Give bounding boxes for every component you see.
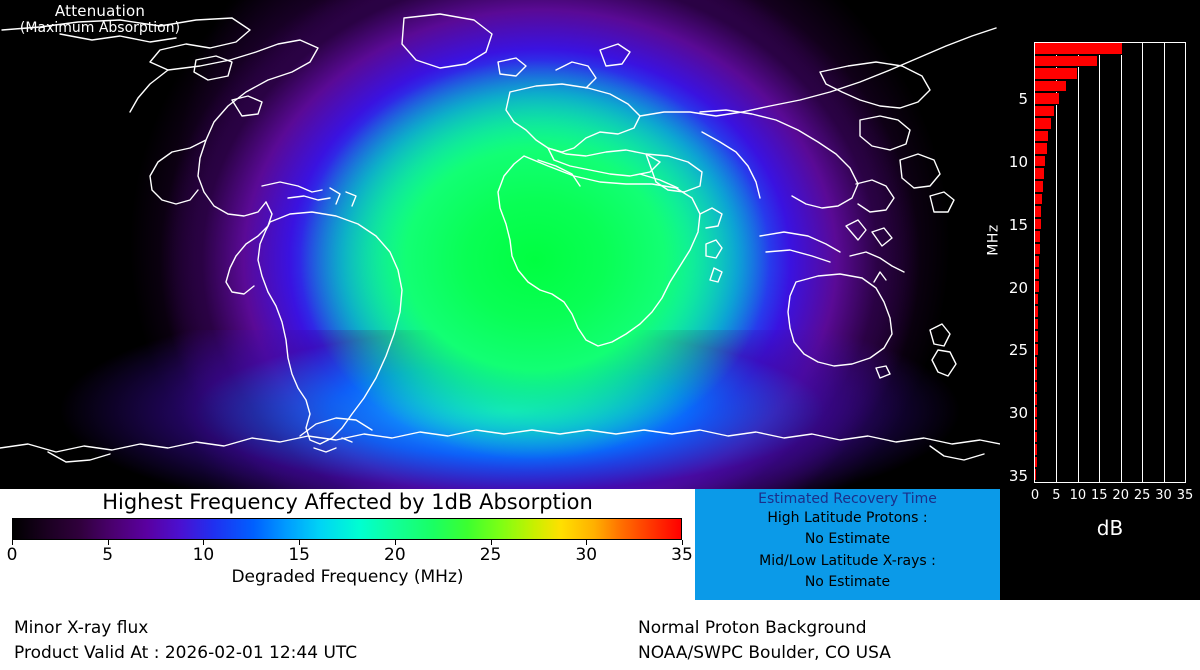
attenuation-bar <box>1035 407 1037 419</box>
attenuation-bar <box>1035 106 1054 118</box>
attenuation-bar <box>1035 369 1037 381</box>
attenuation-bar <box>1035 68 1077 80</box>
attenuation-bar <box>1035 419 1037 431</box>
footer: Minor X-ray flux Product Valid At : 2026… <box>0 600 1200 670</box>
attenuation-y-tick-30: 30 <box>0 404 1028 422</box>
colorbar-axis-label: Degraded Frequency (MHz) <box>0 567 695 587</box>
attenuation-bar <box>1035 93 1059 105</box>
attenuation-bar <box>1035 181 1043 193</box>
attenuation-bar <box>1035 219 1041 231</box>
attenuation-x-tick-35: 35 <box>1172 488 1198 503</box>
attenuation-bar <box>1035 394 1037 406</box>
attenuation-bar <box>1035 156 1045 168</box>
attenuation-bar <box>1035 231 1040 243</box>
attenuation-bar <box>1035 331 1038 343</box>
attenuation-bar <box>1035 256 1039 268</box>
attenuation-chart-title: Attenuation <box>0 3 200 20</box>
colorbar-tick-5: 5 <box>88 545 128 565</box>
attenuation-bar <box>1035 319 1038 331</box>
recovery-xray-label: Mid/Low Latitude X-rays : <box>695 553 1000 570</box>
recovery-proton-value: No Estimate <box>695 531 1000 548</box>
attenuation-bar <box>1035 444 1037 456</box>
estimated-recovery-time-panel: Estimated Recovery Time High Latitude Pr… <box>695 489 1000 600</box>
attenuation-y-tick-10: 10 <box>0 153 1028 171</box>
colorbar-tick-30: 30 <box>566 545 606 565</box>
attenuation-bar <box>1035 244 1040 256</box>
attenuation-y-tick-5: 5 <box>0 90 1028 108</box>
attenuation-bar <box>1035 344 1038 356</box>
attenuation-bar <box>1035 168 1044 180</box>
attenuation-bar <box>1035 357 1037 369</box>
footer-agency: NOAA/SWPC Boulder, CO USA <box>638 642 891 665</box>
recovery-xray-value: No Estimate <box>695 574 1000 591</box>
colorbar-tick-15: 15 <box>279 545 319 565</box>
attenuation-bar <box>1035 43 1122 55</box>
colorbar-panel: Highest Frequency Affected by 1dB Absorp… <box>0 489 695 600</box>
attenuation-bar <box>1035 382 1037 394</box>
colorbar-tick-25: 25 <box>471 545 511 565</box>
attenuation-bar <box>1035 281 1039 293</box>
attenuation-y-tick-35: 35 <box>0 467 1028 485</box>
attenuation-bar <box>1035 432 1037 444</box>
attenuation-x-axis-label: dB <box>1034 516 1186 540</box>
colorbar-tick-10: 10 <box>183 545 223 565</box>
attenuation-bar <box>1035 269 1039 281</box>
attenuation-bar <box>1035 81 1066 93</box>
attenuation-chart-subtitle: (Maximum Absorption) <box>0 20 200 36</box>
attenuation-bar <box>1035 294 1038 306</box>
colorbar-tick-0: 0 <box>0 545 32 565</box>
attenuation-y-tick-15: 15 <box>0 216 1028 234</box>
colorbar-title: Highest Frequency Affected by 1dB Absorp… <box>0 489 695 515</box>
footer-xray-status: Minor X-ray flux <box>14 617 148 640</box>
colorbar-gradient <box>12 518 682 540</box>
attenuation-bar <box>1035 469 1036 481</box>
d-region-absorption-prediction: Attenuation (Maximum Absorption) MHz dB … <box>0 0 1200 670</box>
footer-valid-at: Product Valid At : 2026-02-01 12:44 UTC <box>14 642 357 665</box>
attenuation-bar <box>1035 194 1042 206</box>
attenuation-bar <box>1035 306 1038 318</box>
attenuation-bar <box>1035 143 1047 155</box>
attenuation-bar <box>1035 56 1097 68</box>
attenuation-bar <box>1035 131 1048 143</box>
recovery-heading: Estimated Recovery Time <box>695 491 1000 508</box>
attenuation-bar <box>1035 118 1051 130</box>
attenuation-y-tick-25: 25 <box>0 341 1028 359</box>
attenuation-y-tick-20: 20 <box>0 279 1028 297</box>
attenuation-bar <box>1035 206 1041 218</box>
attenuation-bar <box>1035 457 1037 469</box>
colorbar-tick-20: 20 <box>375 545 415 565</box>
attenuation-bars <box>1035 43 1185 482</box>
footer-proton-status: Normal Proton Background <box>638 617 867 640</box>
recovery-proton-label: High Latitude Protons : <box>695 510 1000 527</box>
